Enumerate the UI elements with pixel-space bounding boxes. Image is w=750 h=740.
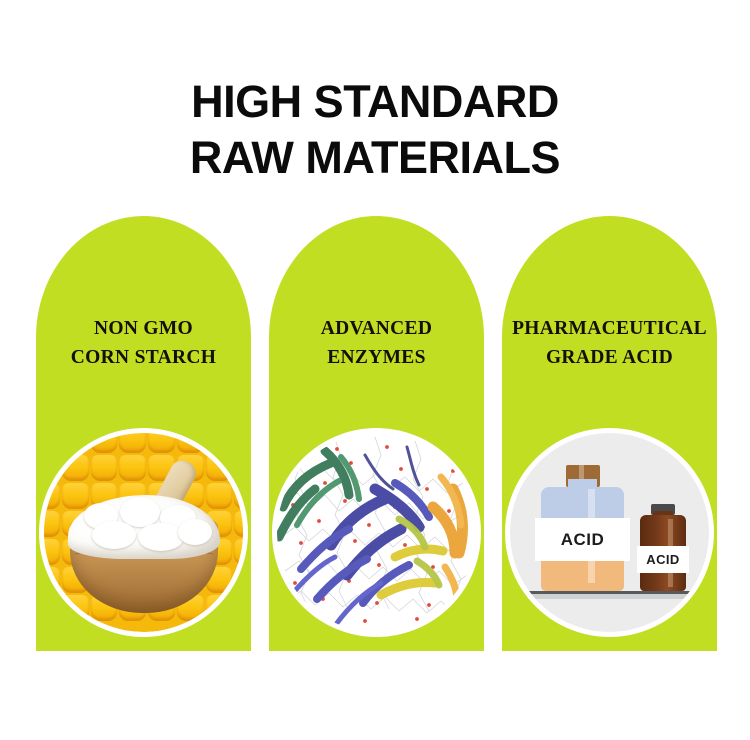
card-label-advanced-enzymes: ADVANCED ENZYMES [269,314,484,372]
poster-root: HIGH STANDARD RAW MATERIALS NON GMO CORN… [0,0,750,740]
shelf-shadow [518,594,701,599]
page-title-line-1: HIGH STANDARD [0,74,750,130]
card-label-line-2: ENZYMES [269,343,484,372]
small-acid-bottle: ACID [640,505,686,591]
page-title-line-2: RAW MATERIALS [0,130,750,186]
card-label-line-2: GRADE ACID [502,343,717,372]
card-non-gmo-corn-starch[interactable]: NON GMO CORN STARCH [36,216,251,651]
card-label-non-gmo-corn-starch: NON GMO CORN STARCH [36,314,251,372]
small-bottle-label: ACID [637,546,689,573]
shelf-line [518,591,701,594]
card-label-pharmaceutical-grade-acid: PHARMACEUTICAL GRADE ACID [502,314,717,372]
page-title: HIGH STANDARD RAW MATERIALS [0,74,750,186]
acid-bottles-illustration: ACID ACID [505,428,714,637]
card-label-line-1: NON GMO [36,314,251,343]
enzyme-protein-structure-photo [272,428,481,637]
card-label-line-1: PHARMACEUTICAL [502,314,717,343]
large-acid-bottle: ACID [541,473,624,591]
raw-materials-card-row: NON GMO CORN STARCH [36,216,717,651]
card-label-line-1: ADVANCED [269,314,484,343]
protein-ribbon-diagram [277,433,476,632]
card-label-line-2: CORN STARCH [36,343,251,372]
corn-starch-bowl-photo [39,428,248,637]
card-advanced-enzymes[interactable]: ADVANCED ENZYMES [269,216,484,651]
large-bottle-label: ACID [535,518,630,561]
card-pharmaceutical-grade-acid[interactable]: PHARMACEUTICAL GRADE ACID [502,216,717,651]
